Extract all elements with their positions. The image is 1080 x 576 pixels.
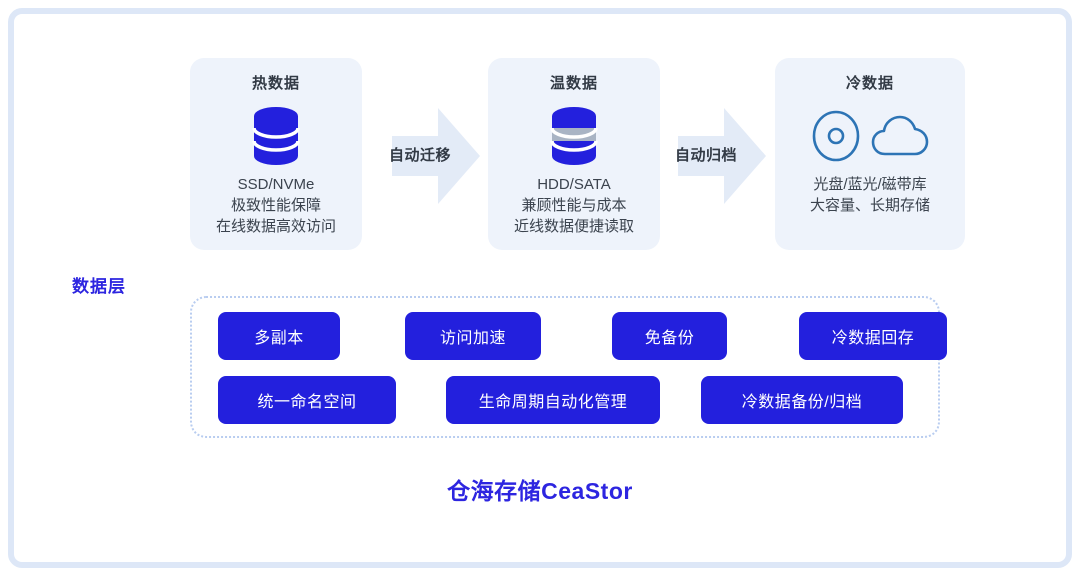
tier-title-hot: 热数据 xyxy=(190,74,362,94)
tier-card-hot: 热数据 SSD/NVMe 极致性能保障 在线数据高效访问 xyxy=(190,58,362,250)
tier-line: 大容量、长期存储 xyxy=(775,195,965,216)
database-icon xyxy=(248,105,304,167)
tier-line: SSD/NVMe xyxy=(190,174,362,195)
feature-chip-cold-backup-archive[interactable]: 冷数据备份/归档 xyxy=(701,376,903,424)
tier-title-cold: 冷数据 xyxy=(775,74,965,94)
feature-chip-multi-replica[interactable]: 多副本 xyxy=(218,312,340,360)
tier-lines-cold: 光盘/蓝光/磁带库 大容量、长期存储 xyxy=(775,174,965,216)
tier-lines-warm: HDD/SATA 兼顾性能与成本 近线数据便捷读取 xyxy=(488,174,660,237)
feature-chip-access-accel[interactable]: 访问加速 xyxy=(405,312,541,360)
feature-chip-row-1: 多副本 访问加速 免备份 冷数据回存 xyxy=(218,312,947,360)
tier-title-warm: 温数据 xyxy=(488,74,660,94)
tier-line: 在线数据高效访问 xyxy=(190,216,362,237)
tier-line: 光盘/蓝光/磁带库 xyxy=(775,174,965,195)
tier-card-warm: 温数据 HDD/SATA 兼顾性能与成本 近线数据便捷读取 xyxy=(488,58,660,250)
feature-chip-unified-namespace[interactable]: 统一命名空间 xyxy=(218,376,396,424)
tier-line: 兼顾性能与成本 xyxy=(488,195,660,216)
flow-arrow-label-archive: 自动归档 xyxy=(660,144,752,165)
optical-disc-icon xyxy=(811,109,861,163)
data-layer-label: 数据层 xyxy=(72,272,126,297)
flow-arrow-migrate: 自动迁移 xyxy=(392,108,480,204)
tier-icon-slot-warm xyxy=(488,102,660,170)
flow-arrow-label-migrate: 自动迁移 xyxy=(374,144,466,165)
feature-chip-backup-free[interactable]: 免备份 xyxy=(612,312,727,360)
feature-chip-lifecycle-automation[interactable]: 生命周期自动化管理 xyxy=(446,376,660,424)
feature-chip-row-2: 统一命名空间 生命周期自动化管理 冷数据备份/归档 xyxy=(218,376,903,424)
flow-arrow-archive: 自动归档 xyxy=(678,108,766,204)
product-brand-title: 仓海存储CeaStor xyxy=(0,472,1080,506)
tier-card-cold: 冷数据 光盘/蓝光/磁带库 大容量、长期存储 xyxy=(775,58,965,250)
tier-icon-slot-hot xyxy=(190,102,362,170)
tier-icon-slot-cold xyxy=(775,102,965,170)
tier-line: HDD/SATA xyxy=(488,174,660,195)
cloud-icon xyxy=(871,113,929,159)
tier-lines-hot: SSD/NVMe 极致性能保障 在线数据高效访问 xyxy=(190,174,362,237)
database-mixed-icon xyxy=(546,105,602,167)
tier-line: 近线数据便捷读取 xyxy=(488,216,660,237)
tier-line: 极致性能保障 xyxy=(190,195,362,216)
diagram-canvas: 热数据 SSD/NVMe 极致性能保障 在线数据高效访问 自动迁移 温数据 xyxy=(0,0,1080,576)
feature-chip-cold-restore[interactable]: 冷数据回存 xyxy=(799,312,947,360)
